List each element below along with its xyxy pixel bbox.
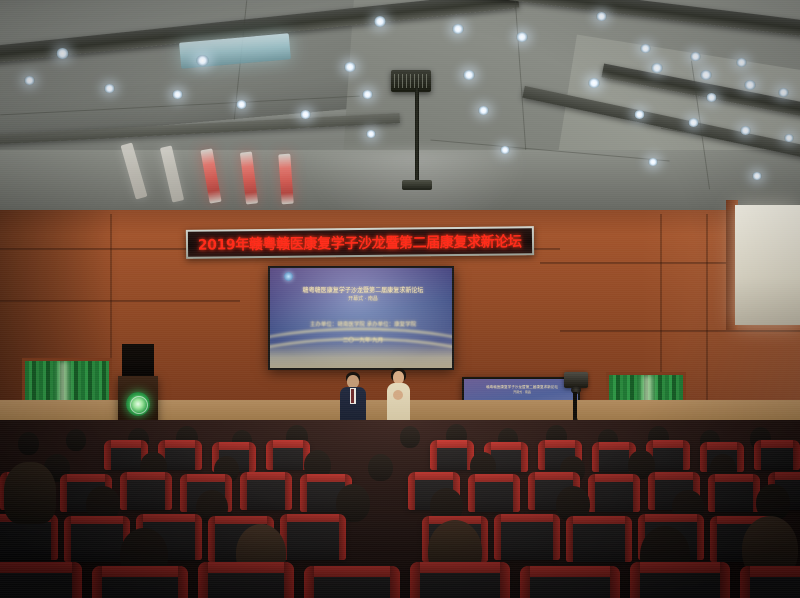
- seat-trim: [92, 566, 102, 598]
- seat-trim: [0, 562, 82, 573]
- seat: [410, 562, 510, 598]
- seat-trim: [92, 566, 188, 577]
- seat-trim: [339, 514, 346, 560]
- seat-trim: [300, 474, 307, 512]
- ceiling-downlight: [172, 90, 183, 99]
- seat-trim: [520, 566, 620, 577]
- seat: [708, 474, 760, 512]
- seat-trim: [240, 472, 247, 510]
- seat: [754, 440, 800, 470]
- seat-trim: [720, 562, 730, 598]
- seat: [740, 566, 800, 598]
- seat-trim: [528, 472, 535, 510]
- seat: [630, 562, 730, 598]
- seat-trim: [410, 562, 420, 598]
- ceiling-downlight: [478, 106, 489, 115]
- seat-trim: [500, 562, 510, 598]
- monitor-line-2: 开幕式 · 南昌: [467, 391, 577, 395]
- projection-screen: 赣粤赣医康复学子沙龙暨第二届康复求新论坛 开幕式 · 南昌 主办单位：赣南医学院…: [268, 266, 454, 370]
- seat-trim: [72, 562, 82, 598]
- ceiling-downlight: [362, 90, 373, 99]
- seat-trim: [64, 516, 130, 524]
- seat-trim: [566, 516, 632, 524]
- ceiling-downlight: [516, 32, 528, 42]
- seat-trim: [513, 474, 520, 512]
- ceiling-downlight: [56, 48, 69, 59]
- seat: [304, 566, 400, 598]
- seat-trim: [408, 472, 415, 510]
- seat-trim: [592, 442, 599, 472]
- ceiling-downlight: [236, 100, 247, 109]
- seat-trim: [280, 514, 346, 522]
- wall-seam: [706, 214, 708, 414]
- seat-trim: [195, 514, 202, 560]
- monitor-line-1: 赣粤赣医康复学子沙龙暨第二届康复求新论坛: [467, 385, 577, 389]
- ceiling-downlight: [744, 80, 756, 90]
- seat-trim: [708, 474, 715, 512]
- seat-trim: [60, 474, 67, 512]
- ceiling-downlight: [104, 84, 115, 93]
- seat-trim: [468, 474, 475, 512]
- seat-trim: [249, 442, 256, 472]
- seat-trim: [178, 566, 188, 598]
- seat-trim: [304, 566, 400, 577]
- ceiling-downlight: [736, 58, 747, 67]
- ceiling-downlight: [634, 110, 645, 119]
- banner-led-panel: 2019年赣粤赣医康复学子沙龙暨第二届康复求新论坛: [188, 228, 532, 257]
- seat: [120, 472, 172, 510]
- ceiling-downlight: [366, 130, 376, 138]
- ceiling-downlight: [778, 88, 789, 97]
- seat-trim: [208, 516, 274, 524]
- audience-head: [18, 432, 39, 455]
- presenter-female-hands: [393, 390, 403, 400]
- banner-title-text: 2019年赣粤赣医康复学子沙龙暨第二届康复求新论坛: [198, 230, 522, 254]
- seat-trim: [390, 566, 400, 598]
- seat: [468, 474, 520, 512]
- ceiling-downlight: [690, 52, 701, 61]
- seat-trim: [630, 562, 730, 573]
- wall-seam: [560, 330, 800, 332]
- ceiling-downlight: [700, 70, 712, 80]
- auditorium-photo: 2019年赣粤赣医康复学子沙龙暨第二届康复求新论坛 赣粤赣医康复学子沙龙暨第二届…: [0, 0, 800, 598]
- doorway-light: [735, 205, 800, 325]
- seat: [198, 562, 294, 598]
- ceiling-downlight: [651, 63, 663, 73]
- seat: [92, 566, 188, 598]
- seat: [588, 474, 640, 512]
- seat-trim: [610, 566, 620, 598]
- seat-trim: [625, 516, 632, 562]
- ceiling-downlight: [196, 55, 209, 66]
- seat-trim: [195, 440, 202, 470]
- seat-trim: [566, 516, 573, 562]
- seat-trim: [521, 442, 528, 472]
- seat-trim: [633, 474, 640, 512]
- seat-trim: [430, 440, 437, 470]
- seat-trim: [737, 442, 744, 472]
- seat-trim: [284, 562, 294, 598]
- seat-trim: [266, 440, 273, 470]
- slide-subtitle: 开幕式 · 南昌: [276, 296, 450, 302]
- seat: [494, 514, 560, 560]
- seat-trim: [51, 514, 58, 560]
- ceiling-downlight: [374, 16, 386, 27]
- seat-trim: [754, 440, 761, 470]
- seat-trim: [136, 514, 202, 522]
- projector-drop-pole: [415, 88, 419, 184]
- ceiling-downlight: [596, 12, 607, 21]
- projection-screen-surface: 赣粤赣医康复学子沙龙暨第二届康复求新论坛 开幕式 · 南昌 主办单位：赣南医学院…: [270, 268, 452, 368]
- seat: [520, 566, 620, 598]
- seat-trim: [740, 566, 750, 598]
- ceiling-downlight: [463, 70, 475, 80]
- slide-logo-icon: [284, 272, 293, 281]
- audience-head-foreground: [4, 462, 56, 524]
- seat-trim: [494, 514, 501, 560]
- seat-trim: [520, 566, 530, 598]
- ceiling-downlight: [752, 172, 762, 180]
- seat-trim: [104, 440, 111, 470]
- wall-seam: [0, 300, 240, 302]
- seat-trim: [553, 514, 560, 560]
- ceiling-downlight: [300, 110, 311, 119]
- audience-head: [368, 454, 393, 481]
- projector-mount: [402, 180, 432, 190]
- seat: [280, 514, 346, 560]
- seat-trim: [165, 472, 172, 510]
- seat-trim: [64, 516, 71, 562]
- seat-trim: [285, 472, 292, 510]
- seat-trim: [630, 562, 640, 598]
- seat-trim: [208, 516, 215, 562]
- seat-trim: [700, 442, 707, 472]
- seat-trim: [180, 474, 187, 512]
- audience-area: [0, 420, 800, 598]
- presenter-male-tie: [351, 389, 354, 403]
- ceiling-downlight: [648, 158, 658, 166]
- ceiling-downlight: [640, 44, 651, 53]
- projector-vent: [394, 74, 427, 88]
- ceiling: [0, 0, 800, 232]
- seat: [566, 516, 632, 562]
- seat-trim: [683, 440, 690, 470]
- seat: [0, 562, 82, 598]
- seat-trim: [793, 440, 800, 470]
- slide-title: 赣粤赣医康复学子沙龙暨第二届康复求新论坛: [282, 286, 444, 294]
- ceiling-downlight: [588, 78, 600, 88]
- seat-trim: [410, 562, 510, 573]
- ceiling-downlight: [344, 62, 356, 72]
- ceiling-downlight: [784, 134, 794, 142]
- seat-trim: [481, 516, 488, 562]
- seat: [430, 440, 474, 470]
- audience-head: [66, 429, 86, 451]
- seat-trim: [198, 562, 208, 598]
- seat-trim: [120, 472, 127, 510]
- seat-trim: [697, 514, 704, 560]
- seat-trim: [710, 516, 717, 562]
- seat-trim: [638, 514, 704, 522]
- seat-trim: [538, 440, 545, 470]
- ceiling-downlight: [688, 118, 699, 127]
- emblem-ring: [130, 396, 148, 414]
- seat-trim: [494, 514, 560, 522]
- seat-trim: [304, 566, 314, 598]
- tripod-column: [573, 392, 577, 420]
- slide-arc-decoration: [270, 338, 452, 368]
- event-banner: 2019年赣粤赣医康复学子沙龙暨第二届康复求新论坛: [186, 226, 534, 259]
- ceiling-downlight: [24, 76, 35, 85]
- ceiling-downlight: [452, 24, 464, 34]
- seat: [240, 472, 292, 510]
- seat-trim: [198, 562, 294, 573]
- ceiling-downlight: [740, 126, 751, 135]
- audience-head: [400, 426, 420, 448]
- seat-trim: [648, 472, 655, 510]
- ceiling-downlight: [706, 93, 717, 102]
